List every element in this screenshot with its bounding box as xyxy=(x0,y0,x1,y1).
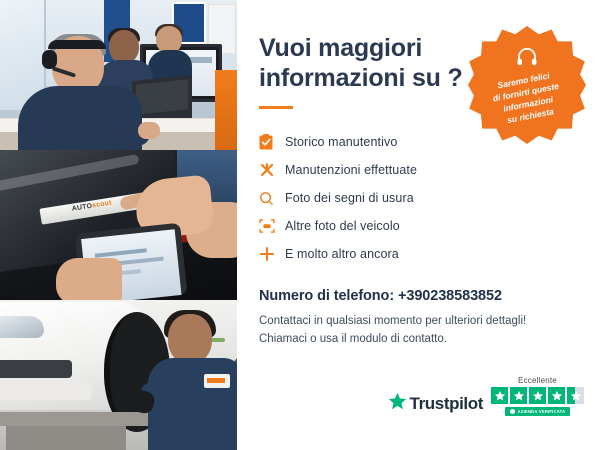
photo-tire-service xyxy=(0,300,237,450)
verified-label: AZIENDA VERIFICATA xyxy=(518,409,566,414)
feature-item-foto-usura[interactable]: Foto dei segni di usura xyxy=(259,184,578,212)
phone-label: Numero di telefono: xyxy=(259,288,394,304)
trustpilot-widget[interactable]: Trustpilot Eccellente xyxy=(388,376,584,416)
photo-damage-inspection: AUTOscout xyxy=(0,150,237,300)
feature-item-manutenzioni[interactable]: Manutenzioni effettuate xyxy=(259,156,578,184)
photo-call-center xyxy=(0,0,237,150)
trustpilot-logo: Trustpilot xyxy=(388,392,483,416)
feature-item-altro[interactable]: E molto altro ancora xyxy=(259,240,578,268)
feature-list: Storico manutentivo Manutenzioni effettu… xyxy=(259,128,578,268)
trustpilot-star-icon xyxy=(388,392,407,416)
contact-line-2: Chiamaci o usa il modulo di contatto. xyxy=(259,331,578,349)
star-icon xyxy=(491,387,508,404)
star-icon xyxy=(548,387,565,404)
contact-line-1: Contattaci in qualsiasi momento per ulte… xyxy=(259,313,578,331)
phone-block: Numero di telefono: +390238583852 Contat… xyxy=(259,288,578,349)
feature-label: E molto altro ancora xyxy=(285,247,399,261)
star-icon xyxy=(510,387,527,404)
crossed-tools-icon xyxy=(259,162,285,178)
phone-line: Numero di telefono: +390238583852 xyxy=(259,288,578,304)
feature-label: Manutenzioni effettuate xyxy=(285,163,417,177)
car-scan-icon xyxy=(259,218,285,234)
content-panel: Vuoi maggiori informazioni su ? Saremo f… xyxy=(237,0,600,450)
phone-number[interactable]: +390238583852 xyxy=(398,288,502,304)
feature-label: Altre foto del veicolo xyxy=(285,219,400,233)
headset-icon xyxy=(516,48,538,71)
feature-label: Storico manutentivo xyxy=(285,135,397,149)
badge-text: Saremo felici di fornirti queste informa… xyxy=(480,66,574,130)
star-half-icon xyxy=(567,387,584,404)
trustpilot-rating: Eccellente xyxy=(491,376,584,416)
title-divider xyxy=(259,106,293,109)
clipboard-check-icon xyxy=(259,134,285,150)
check-icon xyxy=(510,409,515,414)
page-title: Vuoi maggiori informazioni su ? xyxy=(259,34,469,93)
star-icon xyxy=(529,387,546,404)
trustpilot-name: Trustpilot xyxy=(410,394,483,414)
photo-column: AUTOscout xyxy=(0,0,237,450)
magnifier-icon xyxy=(259,191,285,206)
plus-icon xyxy=(259,246,285,262)
rating-label: Eccellente xyxy=(518,376,557,385)
callout-badge: Saremo felici di fornirti queste informa… xyxy=(468,26,586,144)
contact-text: Contattaci in qualsiasi momento per ulte… xyxy=(259,313,578,349)
star-rating xyxy=(491,387,584,404)
feature-label: Foto dei segni di usura xyxy=(285,191,414,205)
verified-badge: AZIENDA VERIFICATA xyxy=(505,407,571,416)
promo-banner: AUTOscout Vuoi maggiori informazioni su … xyxy=(0,0,600,450)
feature-item-altre-foto[interactable]: Altre foto del veicolo xyxy=(259,212,578,240)
